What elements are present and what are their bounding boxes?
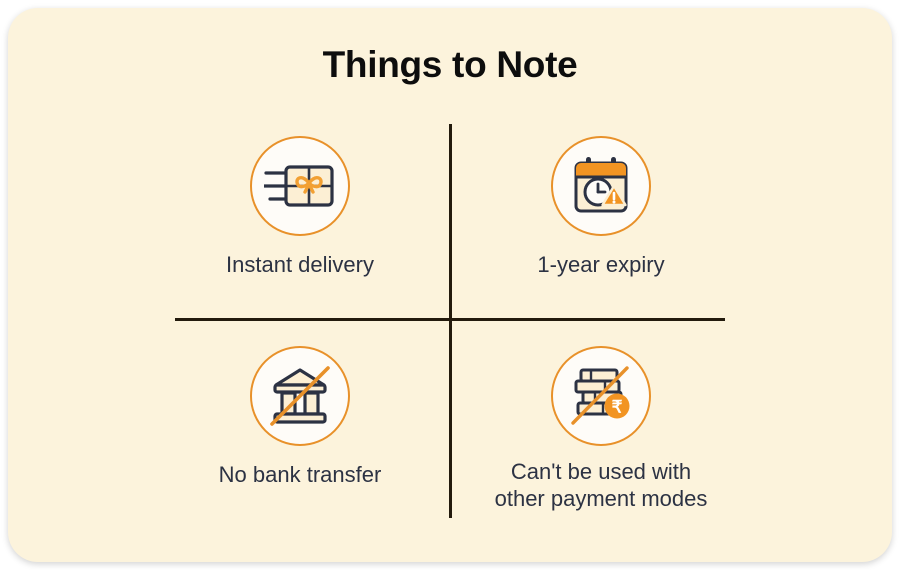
- page-title: Things to Note: [8, 44, 892, 86]
- tile-label: No bank transfer: [150, 461, 450, 488]
- cash-stack-rupee-blocked-icon: ₹: [551, 346, 651, 446]
- things-to-note-card: Things to Note: [8, 8, 892, 562]
- tile-label: 1-year expiry: [451, 251, 751, 278]
- svg-text:₹: ₹: [612, 398, 623, 417]
- gift-card-speed-icon: [250, 136, 350, 236]
- tile-one-year-expiry: 1-year expiry: [451, 136, 751, 278]
- tile-label: Instant delivery: [150, 251, 450, 278]
- calendar-clock-warning-icon: [551, 136, 651, 236]
- tile-label-line2: other payment modes: [451, 485, 751, 512]
- tile-label: Can't be used with other payment modes: [451, 458, 751, 512]
- bank-blocked-icon: [250, 346, 350, 446]
- tile-instant-delivery: Instant delivery: [150, 136, 450, 278]
- tile-label-line1: Can't be used with: [451, 458, 751, 485]
- tile-no-other-payment-modes: ₹ Can't be used with other payment modes: [451, 346, 751, 512]
- tile-no-bank-transfer: No bank transfer: [150, 346, 450, 488]
